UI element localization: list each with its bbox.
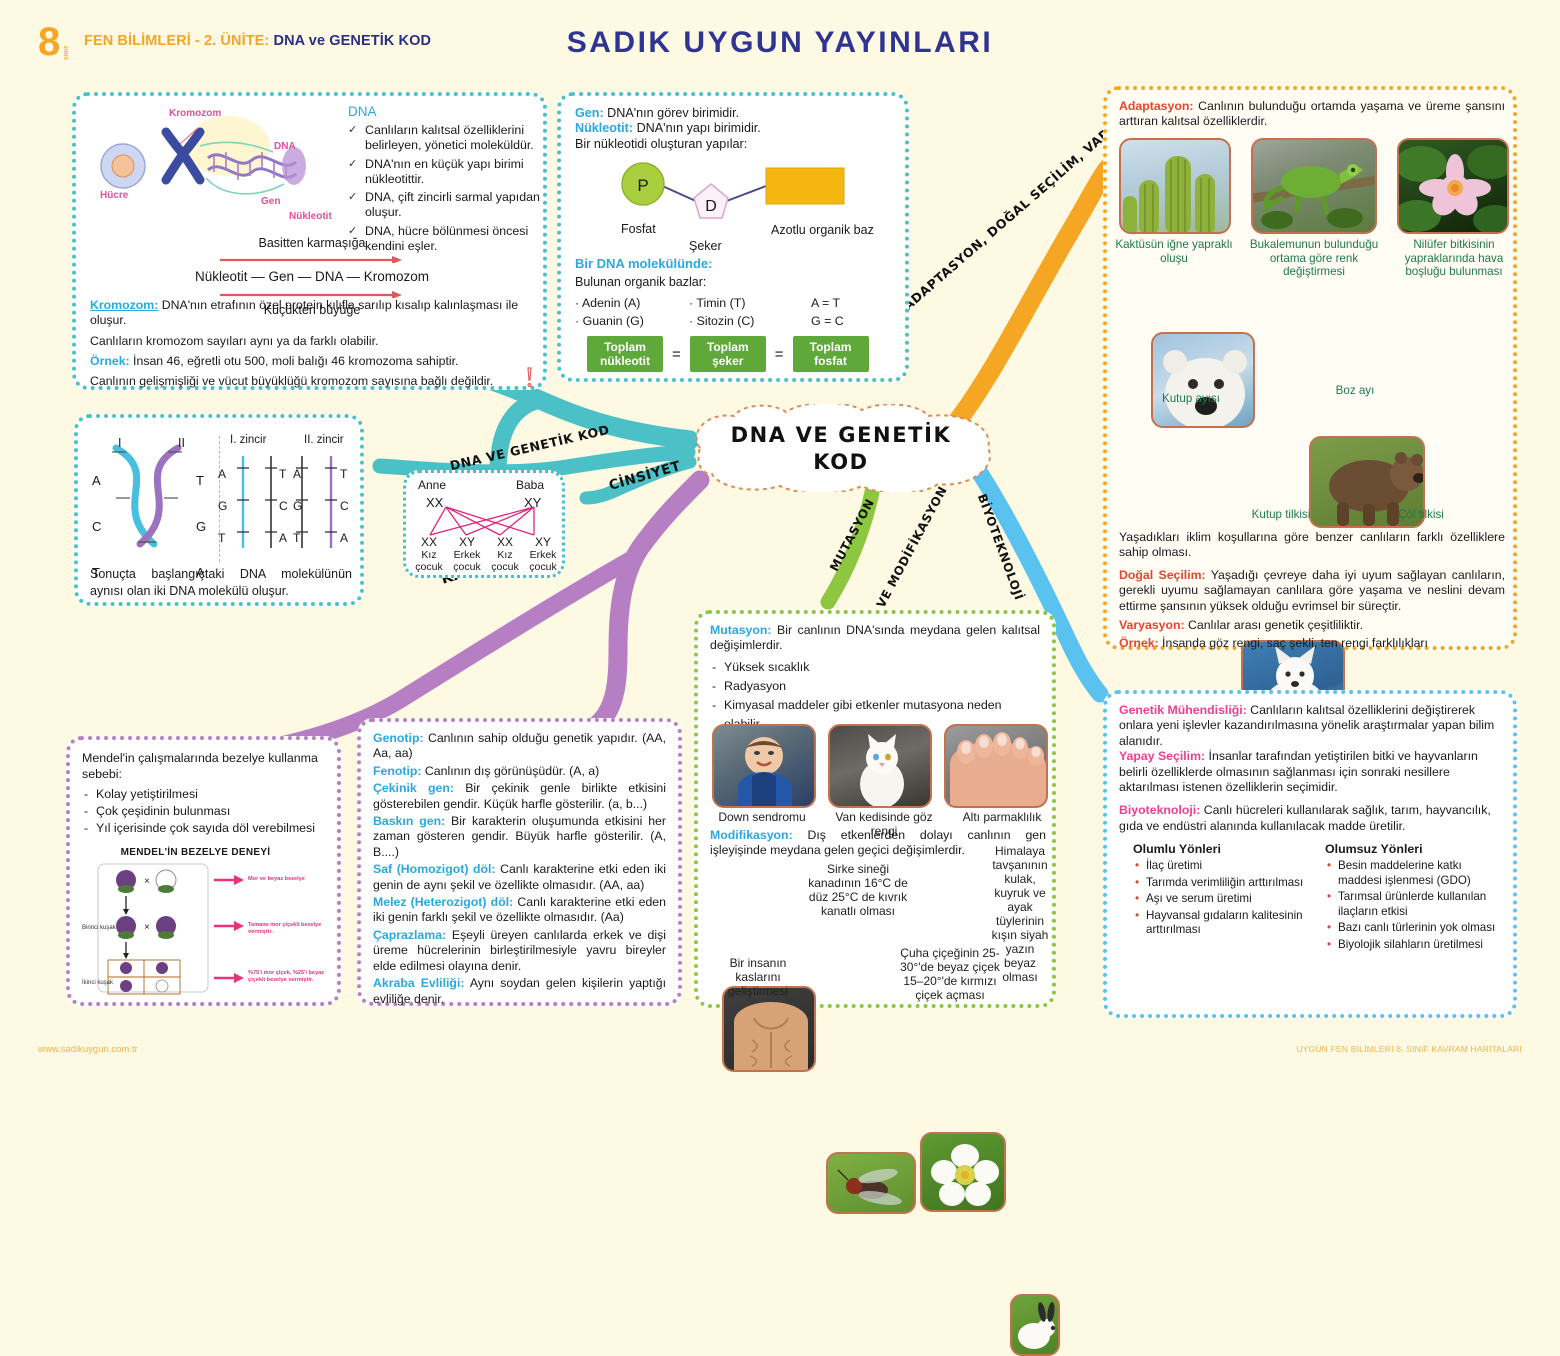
photo-caption: Boz ayı — [1295, 384, 1415, 398]
mutasyon-photo-item — [944, 724, 1048, 808]
label-hucre: Hücre — [100, 190, 128, 201]
child-outcome: XY Erkek çocuk — [448, 535, 486, 573]
mutasyon-card: Mutasyon: Bir canlının DNA'sında meydana… — [694, 610, 1056, 1008]
mendel-experiment-title: MENDEL'İN BEZELYE DENEYİ — [70, 847, 321, 858]
child-label-line2: çocuk — [410, 561, 448, 573]
down-sendromu-photo — [712, 724, 816, 808]
total-nukleotit-badge: Toplam nükleotit — [587, 336, 663, 372]
term-text: Canlının dış görünüşüdür. (A, a) — [422, 764, 600, 778]
list-item: Yıl içerisinde çok sayıda döl verebilmes… — [82, 820, 325, 837]
child-genotype: XX — [486, 535, 524, 549]
child-outcome: XY Erkek çocuk — [524, 535, 562, 573]
term-lead: Baskın gen: — [373, 814, 445, 828]
equals-sign-1: = — [672, 346, 681, 363]
photo-caption: Bukalemunun bulunduğu ortama göre renk d… — [1247, 238, 1381, 279]
photo-caption: Çöl tilkisi — [1361, 508, 1481, 522]
yapay-secilim-paragraph: Yapay Seçilim: İnsanlar tarafından yetiş… — [1119, 749, 1505, 795]
baskin-gen-term: Baskın gen: Bir karakterin oluşumunda et… — [373, 814, 666, 860]
scale-top-label: Basitten karmaşığa — [92, 236, 532, 250]
ornek-lead: Örnek: — [1119, 636, 1159, 650]
modifikasyon-caption-3: Çuha çiçeğinin 25-30°'de beyaz çiçek 15–… — [898, 946, 1002, 1002]
caprazlama-term: Çaprazlama: Eşeyli üreyen canlılarda erk… — [373, 928, 666, 974]
mendel-reasons-list: Kolay yetiştirilmesi Çok çeşidinin bulun… — [82, 786, 325, 837]
base-label: C — [92, 504, 101, 550]
kas-gelistirme-photo — [722, 986, 816, 1072]
adaptasyon-lead: Adaptasyon: — [1119, 99, 1193, 113]
gen-lead: Gen: — [575, 106, 604, 120]
ornek-text: İnsan 46, eğretli otu 500, moli balığı 4… — [130, 354, 459, 368]
photo-caption: Kutup tilkisi — [1219, 508, 1343, 522]
dogal-secilim-paragraph: Doğal Seçilim: Yaşadığı çevreye daha iyi… — [1119, 568, 1505, 614]
modifikasyon-caption-4: Himalaya tavşanının kulak, kuyruk ve aya… — [988, 844, 1052, 984]
van-kedisi-photo — [828, 724, 932, 808]
mutasyon-photo-item — [712, 724, 816, 808]
olumlu-title: Olumlu Yönleri — [1133, 842, 1309, 856]
base-label: T — [218, 522, 227, 554]
alti-parmaklilik-photo — [944, 724, 1048, 808]
base-label: A — [340, 522, 349, 554]
ornek-text: İnsanda göz rengi, saç şekli, ten rengi … — [1159, 636, 1428, 650]
cuha-cicegi-photo — [920, 1132, 1006, 1212]
exclamation-mark-icon — [523, 366, 537, 390]
photo-caption: Nilüfer bitkisinin yapraklarında hava bo… — [1395, 238, 1513, 279]
chain1-left-bases: A G T — [218, 458, 227, 554]
term-lead: Genotip: — [373, 731, 424, 745]
base-label: G — [218, 490, 227, 522]
branch-label-dna: DNA VE GENETİK KOD — [448, 422, 611, 473]
modifikasyon-caption-2: Sirke sineği kanadının 16°C de düz 25°C … — [802, 862, 914, 918]
nilufer-photo — [1397, 138, 1509, 234]
chain2-left-bases: A G T — [293, 458, 302, 554]
list-item: Bazı canlı türlerinin yok olması — [1325, 921, 1501, 936]
dna-line3: Canlının gelişmişliği ve vücut büyüklüğü… — [90, 374, 536, 389]
list-item: · Sitozin (C) — [689, 312, 754, 330]
olumsuz-list: Besin maddelerine katkı maddesi işlenmes… — [1325, 859, 1501, 953]
cinsiyet-card: Anne Baba XX XY XX Kız çocuk XY — [403, 470, 565, 578]
list-item: · Adenin (A) — [575, 294, 644, 312]
mendel-gen2-label: İkinci kuşak — [82, 980, 113, 986]
list-item: Tarımda verimliliğin arttırılması — [1133, 876, 1309, 891]
modifikasyon-lead: Modifikasyon: — [710, 828, 793, 842]
genetik-muhendisligi-lead: Genetik Mühendisliği: — [1119, 703, 1247, 717]
label-dna-strand: DNA — [274, 141, 296, 152]
sirke-sinegi-photo — [826, 1152, 916, 1214]
chain1-title: I. zincir — [230, 434, 266, 446]
child-label-line2: çocuk — [524, 561, 562, 573]
label-nukleotit: Nükleotit — [289, 211, 332, 222]
list-item: · Timin (T) — [689, 294, 754, 312]
list-item: Hayvansal gıdaların kalitesinin arttırıl… — [1133, 909, 1309, 938]
base-pair: A = T — [811, 294, 844, 312]
mendel-gen1-label: Birinci kuşak — [82, 925, 116, 931]
adaptasyon-card: Adaptasyon: Canlının bulunduğu ortamda y… — [1103, 86, 1517, 650]
base-label: A — [293, 458, 302, 490]
base-label: A — [279, 522, 288, 554]
base-label: A — [92, 458, 101, 504]
svg-text:×: × — [144, 876, 150, 887]
branch-label-biyoteknoloji: BİYOTEKNOLOJİ — [975, 492, 1027, 602]
chain2-right-bases: T C A — [340, 458, 349, 554]
page-root: 8 SINIF FEN BİLİMLERİ - 2. ÜNİTE: DNA ve… — [0, 0, 1560, 1080]
base-pair: G = C — [811, 312, 844, 330]
cekinik-gen-term: Çekinik gen: Bir çekinik genle birlikte … — [373, 781, 666, 812]
dna-helix-diagram — [92, 436, 212, 561]
term-lead: Akraba Evliliği: — [373, 976, 464, 990]
term-lead: Melez (Heterozigot) döl: — [373, 895, 513, 909]
equals-sign-2: = — [775, 346, 784, 363]
mutasyon-lead: Mutasyon: — [710, 623, 772, 637]
nukleotit-structures-line: Bir nükleotidi oluşturan yapılar: — [575, 137, 891, 152]
branch-label-mutasyon-line1: MUTASYON — [827, 496, 877, 573]
biyoteknoloji-card: Genetik Mühendisliği: Canlıların kalıtsa… — [1103, 690, 1517, 1018]
base-label: G — [196, 504, 206, 550]
footer-note: UYGUN FEN BİLİMLERİ 8. SINIF KAVRAM HARİ… — [1296, 1044, 1522, 1054]
total-seker-badge: Toplam şeker — [690, 336, 766, 372]
child-label-line2: çocuk — [448, 561, 486, 573]
ornek-lead: Örnek: — [90, 354, 130, 368]
gen-text: DNA'nın görev birimidir. — [604, 106, 739, 120]
child-label-line1: Erkek — [524, 549, 562, 561]
base-label: T — [196, 458, 206, 504]
child-label-line1: Kız — [486, 549, 524, 561]
strand-label-I: I — [118, 436, 121, 450]
mutasyon-definition: Mutasyon: Bir canlının DNA'sında meydana… — [710, 623, 1040, 654]
base-label: T — [293, 522, 302, 554]
list-item: Besin maddelerine katkı maddesi işlenmes… — [1325, 859, 1501, 888]
term-lead: Çaprazlama: — [373, 928, 446, 942]
mutasyon-photo-item — [828, 724, 932, 808]
footer-url[interactable]: www.sadikuygun.com.tr — [38, 1044, 138, 1055]
child-label-line1: Erkek — [448, 549, 486, 561]
himalaya-tavsani-photo — [1010, 1294, 1060, 1356]
list-item: Tarımsal ürünlerde kullanılan ilaçların … — [1325, 890, 1501, 919]
dogal-secilim-lead: Doğal Seçilim: — [1119, 568, 1206, 582]
svg-text:P: P — [637, 176, 648, 195]
term-lead: Çekinik gen: — [373, 781, 454, 795]
mendel-card: Mendel'in çalışmalarında bezelye kullanm… — [66, 736, 341, 1006]
adaptasyon-caption-row-1: Kaktüsün iğne yapraklı oluşu Bukalemunun… — [1115, 238, 1513, 279]
svg-text:×: × — [144, 922, 150, 933]
strand-label-II: II — [178, 436, 185, 450]
base-label: T — [340, 458, 349, 490]
totals-equation: Toplam nükleotit = Toplam şeker = Toplam… — [587, 336, 869, 372]
nukleotit-lead: Nükleotit: — [575, 121, 633, 135]
base-pairs-column: A = T G = C — [811, 294, 844, 330]
page-title: SADIK UYGUN YAYINLARI — [0, 26, 1560, 60]
list-item: Radyasyon — [710, 677, 1040, 696]
dna-replication-card: I II A C T T G A I. zincir II. zincir — [74, 414, 364, 606]
base-label: C — [340, 490, 349, 522]
varyasyon-text: Canlılar arası genetik çeşitliliktir. — [1185, 618, 1363, 632]
fosfat-label: Fosfat — [621, 222, 656, 236]
olumsuz-column: Olumsuz Yönleri Besin maddelerine katkı … — [1325, 842, 1501, 955]
yapay-secilim-lead: Yapay Seçilim: — [1119, 749, 1205, 763]
mendel-note-3: %75'i mor çiçek, %25'i beyaz çiçekli bez… — [248, 970, 328, 984]
dna-kromozom-paragraph: Kromozom: DNA'nın etrafının özel protein… — [90, 298, 536, 329]
cinsiyet-children-row: XX Kız çocuk XY Erkek çocuk XX Kız çocuk… — [410, 535, 562, 573]
svg-text:D: D — [705, 198, 717, 215]
molekul-subtitle: Bulunan organik bazlar: — [575, 275, 706, 290]
list-item: İlaç üretimi — [1133, 859, 1309, 874]
list-item: DNA'nın en küçük yapı birimi nükleotitti… — [348, 157, 548, 188]
kaktus-photo — [1119, 138, 1231, 234]
mutasyon-photo-row — [712, 724, 1048, 808]
genotip-term: Genotip: Canlının sahip olduğu genetik y… — [373, 731, 666, 762]
label-kromozom: Kromozom — [169, 108, 221, 119]
dna-ornek: Örnek: İnsan 46, eğretli otu 500, moli b… — [90, 354, 536, 369]
akraba-evliligi-term: Akraba Evliliği: Aynı soydan gelen kişil… — [373, 976, 666, 1007]
adaptasyon-ornek-paragraph: Örnek: İnsanda göz rengi, saç şekli, ten… — [1119, 636, 1505, 651]
center-title-line1: DNA VE GENETİK — [676, 422, 1006, 449]
center-node[interactable]: DNA VE GENETİK KOD — [676, 404, 1006, 492]
list-item: Aşı ve serum üretimi — [1133, 892, 1309, 907]
adaptasyon-note: Yaşadıkları iklim koşullarına göre benze… — [1119, 530, 1505, 561]
bases-mid-column: · Timin (T) · Sitozin (C) — [689, 294, 754, 330]
mendel-note-2: Tamamı mor çiçekli bezelye vermiştir. — [248, 922, 332, 936]
child-outcome: XX Kız çocuk — [486, 535, 524, 573]
olumlu-list: İlaç üretimi Tarımda verimliliğin arttır… — [1133, 859, 1309, 938]
term-lead: Fenotip: — [373, 764, 422, 778]
list-item: DNA, çift zincirli sarmal yapıdan oluşur… — [348, 190, 548, 221]
total-fosfat-badge: Toplam fosfat — [793, 336, 869, 372]
chain1-right-bases: T C A — [279, 458, 288, 554]
nukleotit-text: DNA'nın yapı birimidir. — [633, 121, 761, 135]
photo-caption: Kaktüsün iğne yapraklı oluşu — [1115, 238, 1233, 279]
label-gen: Gen — [261, 196, 280, 207]
modifikasyon-caption-1: Bir insanın kaslarını geliştirmesi — [706, 956, 810, 998]
center-title-line2: KOD — [676, 449, 1006, 476]
child-outcome: XX Kız çocuk — [410, 535, 448, 573]
olumlu-column: Olumlu Yönleri İlaç üretimi Tarımda veri… — [1133, 842, 1309, 940]
base-label: T — [279, 458, 288, 490]
child-label-line1: Kız — [410, 549, 448, 561]
helix-caption: Sonuçta başlangıçtaki DNA molekülünün ay… — [90, 566, 352, 600]
biyoteknoloji-lead: Biyoteknoloji: — [1119, 803, 1200, 817]
base-label: A — [218, 458, 227, 490]
child-genotype: XX — [410, 535, 448, 549]
center-node-label: DNA VE GENETİK KOD — [676, 422, 1006, 476]
dna-title: DNA — [348, 104, 377, 119]
olumsuz-title: Olumsuz Yönleri — [1325, 842, 1501, 856]
branch-label-cinsiyet: CİNSİYET — [607, 458, 683, 494]
branch-label-mutasyon-line2: VE MODİFİKASYON — [874, 484, 950, 610]
dna-info-card: Kromozom DNA Hücre Gen Nükleotit DNA Can… — [72, 92, 547, 390]
child-label-line2: çocuk — [486, 561, 524, 573]
gen-nukleotit-card: Gen: DNA'nın görev birimidir. Nükleotit:… — [557, 92, 909, 382]
genetik-muhendisligi-paragraph: Genetik Mühendisliği: Canlıların kalıtsa… — [1119, 703, 1505, 749]
mutasyon-causes-list: Yüksek sıcaklık Radyasyon Kimyasal madde… — [710, 658, 1040, 734]
nukleotit-line: Nükleotit: DNA'nın yapı birimidir. — [575, 121, 891, 136]
kutup-ayisi-photo — [1151, 332, 1255, 428]
list-item: Kolay yetiştirilmesi — [82, 786, 325, 803]
list-item: Biyolojik silahların üretilmesi — [1325, 938, 1501, 953]
dna-line2: Canlıların kromozom sayıları aynı ya da … — [90, 334, 536, 349]
scale-chain-label: Nükleotit — Gen — DNA — Kromozom — [92, 269, 532, 284]
list-item: Canlıların kalıtsal özelliklerini belirl… — [348, 123, 548, 154]
varyasyon-lead: Varyasyon: — [1119, 618, 1185, 632]
base-label: C — [279, 490, 288, 522]
mendel-note-1: Mor ve beyaz bezelye — [248, 876, 328, 883]
bukalemun-photo — [1251, 138, 1377, 234]
child-genotype: XY — [524, 535, 562, 549]
adaptasyon-definition: Adaptasyon: Canlının bulunduğu ortamda y… — [1119, 99, 1505, 130]
adaptasyon-photo-row-1 — [1119, 138, 1509, 234]
arrow-right-bottom-icon — [92, 291, 532, 298]
azotlu-baz-label: Azotlu organik baz — [771, 223, 874, 237]
base-label: G — [293, 490, 302, 522]
gen-line: Gen: DNA'nın görev birimidir. — [575, 106, 891, 121]
genotip-card: Genotip: Canlının sahip olduğu genetik y… — [357, 718, 682, 1006]
varyasyon-paragraph: Varyasyon: Canlılar arası genetik çeşitl… — [1119, 618, 1505, 633]
bases-left-column: · Adenin (A) · Guanin (G) — [575, 294, 644, 330]
list-item: Yüksek sıcaklık — [710, 658, 1040, 677]
list-item: Çok çeşidinin bulunması — [82, 803, 325, 820]
list-item: · Guanin (G) — [575, 312, 644, 330]
kromozom-lead: Kromozom: — [90, 298, 158, 312]
chain2-title: II. zincir — [304, 434, 344, 446]
biyoteknoloji-paragraph: Biyoteknoloji: Canlı hücreleri kullanıla… — [1119, 803, 1505, 834]
melez-dol-term: Melez (Heterozigot) döl: Canlı karakteri… — [373, 895, 666, 926]
mendel-intro: Mendel'in çalışmalarında bezelye kullanm… — [82, 750, 325, 782]
molekul-title: Bir DNA molekülünde: — [575, 256, 712, 271]
fenotip-term: Fenotip: Canlının dış görünüşüdür. (A, a… — [373, 764, 666, 779]
nucleotide-structure-diagram: P D — [616, 162, 896, 224]
term-lead: Saf (Homozigot) döl: — [373, 862, 496, 876]
saf-dol-term: Saf (Homozigot) döl: Canlı karakterine e… — [373, 862, 666, 893]
arrow-right-top-icon — [92, 256, 532, 263]
child-genotype: XY — [448, 535, 486, 549]
seker-label: Şeker — [689, 239, 722, 253]
photo-caption: Kutup ayısı — [1127, 392, 1255, 406]
